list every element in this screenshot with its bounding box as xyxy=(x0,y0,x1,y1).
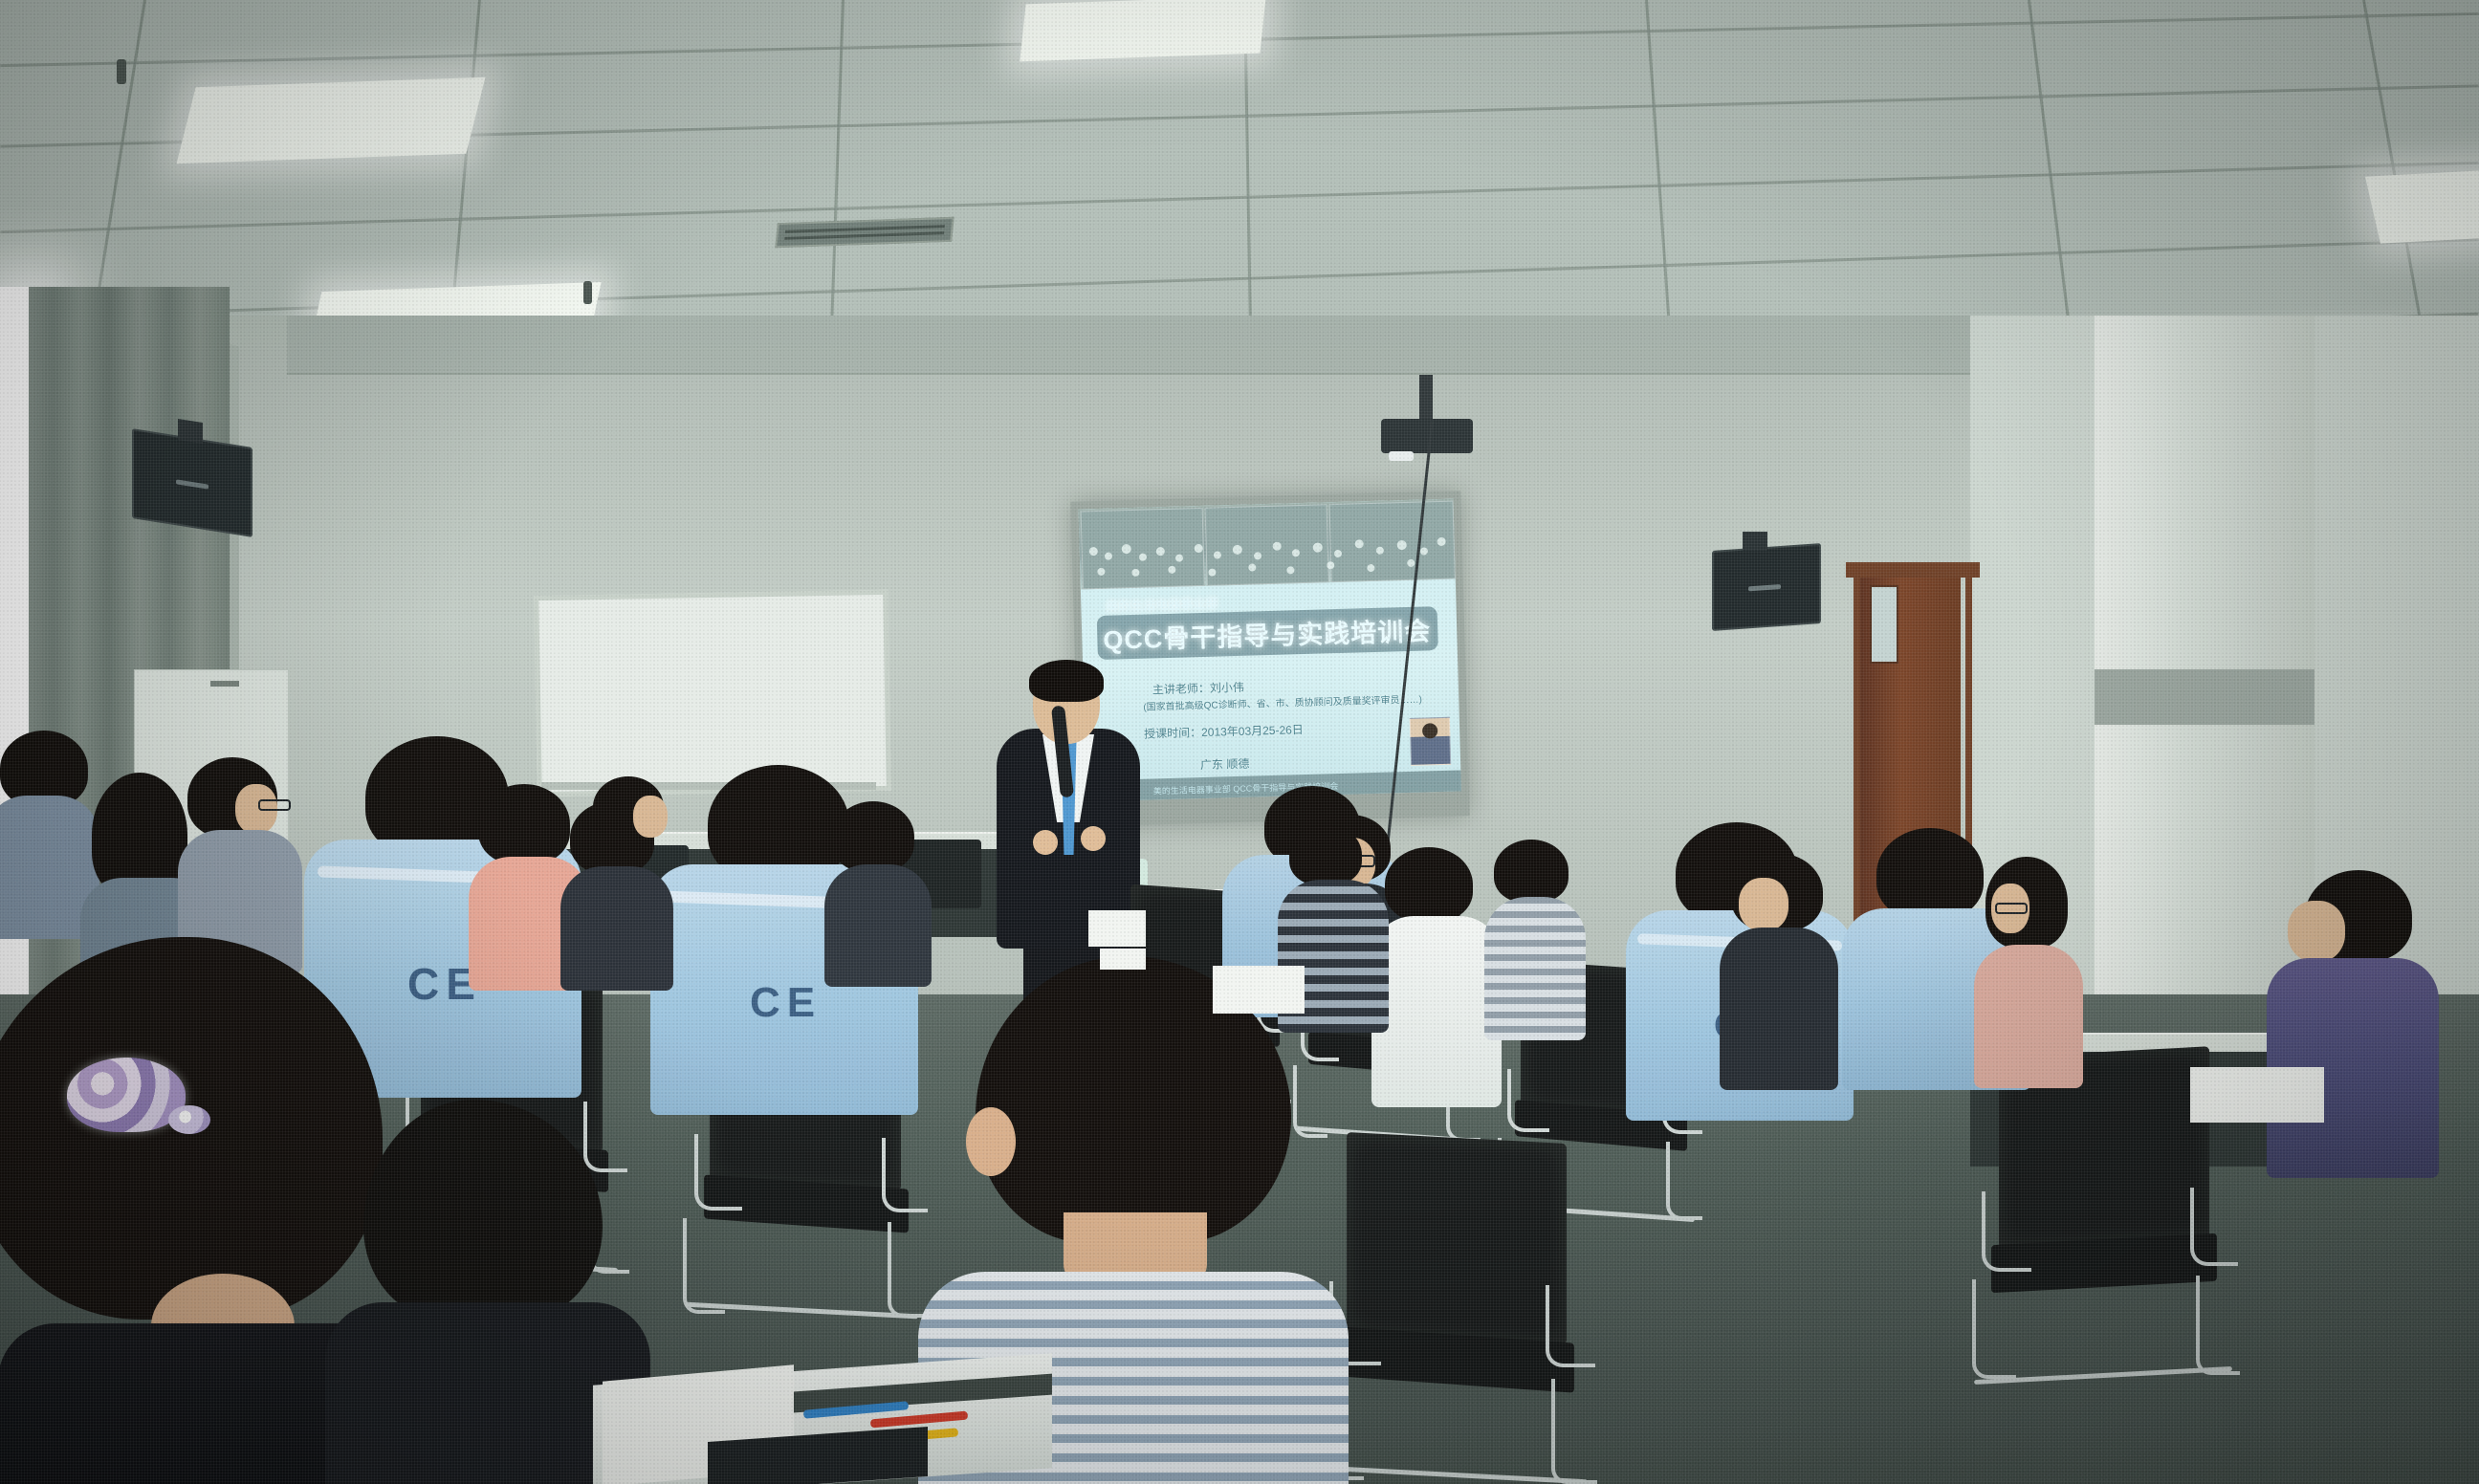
paper-sheet xyxy=(1100,949,1146,970)
ceiling-air-vent xyxy=(775,217,954,248)
presenter-hand xyxy=(1081,826,1106,851)
door-header xyxy=(1846,562,1980,578)
paper-sheet xyxy=(1213,966,1305,1014)
whiteboard xyxy=(534,590,891,797)
sprinkler-head xyxy=(117,59,126,84)
white-shirt-torso xyxy=(1371,916,1502,1107)
slide-photo-strip xyxy=(1079,499,1456,590)
hair-clip-bead xyxy=(168,1105,210,1134)
door-window-pane xyxy=(1870,585,1898,664)
wall-speaker xyxy=(1712,543,1821,631)
projector-mount-pole xyxy=(1419,375,1433,423)
projector-lens xyxy=(1389,451,1414,461)
uniform-ce-logo: CE xyxy=(750,979,822,1027)
paper-sheet xyxy=(2190,1067,2324,1123)
ceiling-light-panel xyxy=(1020,0,1265,61)
cabinet-handle[interactable] xyxy=(210,681,239,687)
presenter-hand xyxy=(1033,830,1058,855)
paper-sheet xyxy=(1088,910,1146,947)
slide-line-1: 主讲老师：刘小伟 xyxy=(1152,679,1244,698)
slide-line-3: 授课时间：2013年03月25-26日 xyxy=(1144,721,1304,742)
slide-speaker-photo xyxy=(1410,717,1451,766)
classroom-photo: 美的生活电器事业部 QCC骨干指导与实践培训会 主讲老师：刘小伟 (国家首批高级… xyxy=(0,0,2479,1484)
sprinkler-head xyxy=(583,281,592,304)
slide-line-4: 广东 顺德 xyxy=(1200,755,1250,773)
wall-speaker xyxy=(132,428,252,537)
ceiling-light-panel xyxy=(2365,167,2479,243)
slide-organization: 美的生活电器事业部 xyxy=(1106,594,1218,615)
presenter-hair xyxy=(1029,660,1104,702)
speaker-mount xyxy=(178,419,203,444)
ceiling-light-panel xyxy=(177,77,486,164)
speaker-mount xyxy=(1743,532,1767,551)
ear xyxy=(966,1107,1016,1176)
column-gray-band xyxy=(2095,669,2314,725)
eyeglasses xyxy=(1995,903,2028,914)
eyeglasses xyxy=(258,799,291,811)
